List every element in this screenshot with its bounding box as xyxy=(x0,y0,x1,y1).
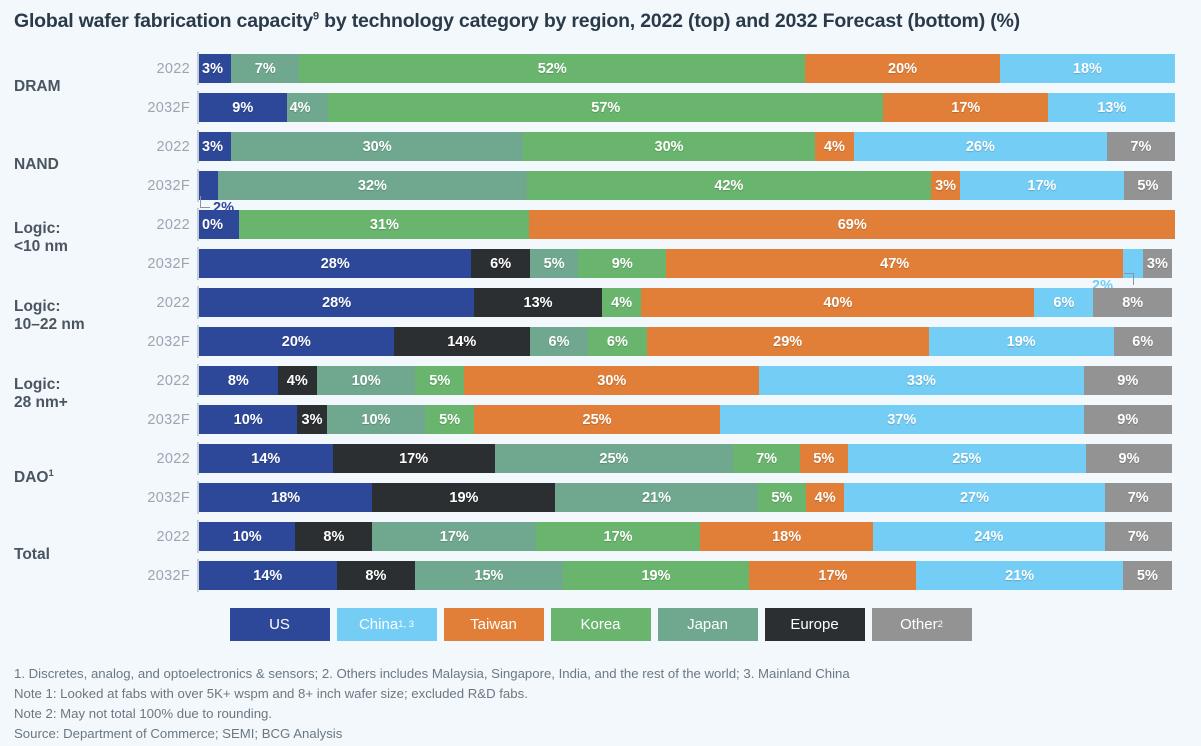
bar-segment-japan[interactable]: 17% xyxy=(372,522,536,551)
chart-group: DAO1202214%17%25%7%5%25%9%2032F18%19%21%… xyxy=(0,442,1201,514)
chart-row: 20220%31%69% xyxy=(0,208,1201,241)
group-rows: 20223%7%52%20%18%2032F9%4%57%17%13% xyxy=(0,52,1201,124)
bar-segment-china[interactable]: 37% xyxy=(720,405,1084,434)
bar-segment-other[interactable]: 7% xyxy=(1107,132,1175,161)
legend-item-japan[interactable]: Japan xyxy=(658,608,758,641)
chart-row: 2032F14%8%15%19%17%21%5% xyxy=(0,559,1201,592)
bar-segment-japan[interactable]: 6% xyxy=(530,327,588,356)
bar-segment-japan[interactable]: 10% xyxy=(317,366,415,395)
chart-row: 2032F9%4%57%17%13% xyxy=(0,91,1201,124)
bar-segment-japan[interactable]: 32% xyxy=(218,171,526,200)
bar-segment-china[interactable]: 6% xyxy=(1034,288,1093,317)
legend-item-europe[interactable]: Europe xyxy=(765,608,865,641)
stacked-bar: 8%4%10%5%30%33%9% xyxy=(199,366,1172,395)
bar-segment-korea[interactable]: 4% xyxy=(602,288,641,317)
bar-segment-us[interactable]: 10% xyxy=(199,522,295,551)
bar-segment-us[interactable]: 8% xyxy=(199,366,278,395)
bar-segment-taiwan[interactable]: 4% xyxy=(806,483,845,512)
chart-row: 2032F20%14%6%6%29%19%6% xyxy=(0,325,1201,358)
bar-segment-korea[interactable]: 9% xyxy=(578,249,666,278)
stacked-bar: 9%4%57%17%13% xyxy=(199,93,1172,122)
bar-segment-taiwan[interactable]: 40% xyxy=(641,288,1034,317)
bar-segment-japan[interactable]: 30% xyxy=(231,132,523,161)
footnotes: 1. Discretes, analog, and optoelectronic… xyxy=(14,664,1191,744)
legend-item-label: Japan xyxy=(687,616,728,633)
row-year-label: 2032F xyxy=(128,412,190,428)
stacked-bar: 32%42%3%17%5% xyxy=(199,171,1172,200)
bar-segment-korea[interactable]: 5% xyxy=(425,405,474,434)
bar-segment-taiwan[interactable]: 3% xyxy=(931,171,960,200)
bar-segment-japan[interactable]: 7% xyxy=(231,54,299,83)
bar-segment-korea[interactable]: 52% xyxy=(299,54,805,83)
bar-segment-europe[interactable]: 8% xyxy=(295,522,372,551)
bar-segment-other[interactable]: 3% xyxy=(1143,249,1172,278)
legend-item-china[interactable]: China1, 3 xyxy=(337,608,437,641)
row-year-label: 2032F xyxy=(128,490,190,506)
footnote-line-3: Note 2: May not total 100% due to roundi… xyxy=(14,704,1191,724)
bar-segment-us[interactable]: 28% xyxy=(199,288,474,317)
stacked-bar: 18%19%21%5%4%27%7% xyxy=(199,483,1172,512)
row-year-label: 2022 xyxy=(128,529,190,545)
bar-segment-japan[interactable]: 21% xyxy=(555,483,757,512)
bar-segment-other[interactable]: 7% xyxy=(1105,522,1172,551)
stacked-bar: 14%8%15%19%17%21%5% xyxy=(199,561,1172,590)
bar-segment-japan[interactable]: 5% xyxy=(530,249,579,278)
row-year-label: 2032F xyxy=(128,568,190,584)
legend-item-taiwan[interactable]: Taiwan xyxy=(444,608,544,641)
bar-segment-japan[interactable]: 10% xyxy=(327,405,425,434)
bar-segment-europe[interactable]: 14% xyxy=(394,327,530,356)
stacked-bar: 3%7%52%20%18% xyxy=(199,54,1172,83)
bar-segment-korea[interactable]: 5% xyxy=(758,483,806,512)
bar-segment-other[interactable]: 9% xyxy=(1084,405,1172,434)
group-rows: 202228%13%4%40%6%8%2032F20%14%6%6%29%19%… xyxy=(0,286,1201,358)
chart-page: Global wafer fabrication capacity9 by te… xyxy=(0,0,1201,746)
stacked-bar: 14%17%25%7%5%25%9% xyxy=(199,444,1172,473)
legend-item-korea[interactable]: Korea xyxy=(551,608,651,641)
bar-segment-china[interactable]: 19% xyxy=(929,327,1114,356)
bar-segment-europe[interactable]: 4% xyxy=(278,366,317,395)
bar-segment-china[interactable]: 24% xyxy=(873,522,1104,551)
bar-segment-taiwan[interactable]: 30% xyxy=(464,366,759,395)
chart-group: DRAM20223%7%52%20%18%2032F9%4%57%17%13% xyxy=(0,52,1201,124)
group-rows: 20223%30%30%4%26%7%2032F32%42%3%17%5%2% xyxy=(0,130,1201,202)
group-rows: 20220%31%69%2032F28%6%5%9%47%3%2% xyxy=(0,208,1201,280)
bar-segment-us[interactable]: 20% xyxy=(199,327,394,356)
bar-segment-europe[interactable]: 17% xyxy=(333,444,495,473)
bar-segment-us[interactable]: 14% xyxy=(199,561,337,590)
chart-group: Total202210%8%17%17%18%24%7%2032F14%8%15… xyxy=(0,520,1201,592)
bar-segment-other[interactable]: 7% xyxy=(1105,483,1172,512)
chart-group: Logic:<10 nm20220%31%69%2032F28%6%5%9%47… xyxy=(0,208,1201,280)
footnote-line-1: 1. Discretes, analog, and optoelectronic… xyxy=(14,664,1191,684)
bar-segment-korea[interactable]: 57% xyxy=(328,93,883,122)
page-title: Global wafer fabrication capacity9 by te… xyxy=(14,10,1191,33)
group-rows: 20228%4%10%5%30%33%9%2032F10%3%10%5%25%3… xyxy=(0,364,1201,436)
bar-segment-other[interactable]: 6% xyxy=(1114,327,1172,356)
legend-item-other[interactable]: Other2 xyxy=(872,608,972,641)
group-rows: 202214%17%25%7%5%25%9%2032F18%19%21%5%4%… xyxy=(0,442,1201,514)
legend-item-label: Europe xyxy=(790,616,838,633)
legend-item-label: Other xyxy=(900,616,938,633)
legend-item-label: China xyxy=(359,616,398,633)
stacked-bar: 20%14%6%6%29%19%6% xyxy=(199,327,1172,356)
bar-segment-korea[interactable]: 30% xyxy=(523,132,815,161)
stacked-bar: 10%8%17%17%18%24%7% xyxy=(199,522,1172,551)
bar-segment-taiwan[interactable]: 17% xyxy=(749,561,916,590)
row-year-label: 2022 xyxy=(128,451,190,467)
bar-segment-china[interactable]: 18% xyxy=(1000,54,1175,83)
bar-segment-korea[interactable]: 6% xyxy=(588,327,646,356)
bar-segment-japan[interactable]: 25% xyxy=(495,444,733,473)
chart-group: Logic:28 nm+20228%4%10%5%30%33%9%2032F10… xyxy=(0,364,1201,436)
bar-segment-us[interactable]: 28% xyxy=(199,249,471,278)
chart-row: 202210%8%17%17%18%24%7% xyxy=(0,520,1201,553)
page-title-text-after: by technology category by region, 2022 (… xyxy=(319,10,1020,32)
chart-legend: USChina1, 3TaiwanKoreaJapanEuropeOther2 xyxy=(0,608,1201,641)
bar-segment-taiwan[interactable]: 5% xyxy=(800,444,848,473)
bar-segment-europe[interactable]: 13% xyxy=(474,288,602,317)
bar-segment-taiwan[interactable]: 47% xyxy=(666,249,1123,278)
row-year-label: 2022 xyxy=(128,295,190,311)
bar-segment-us[interactable]: 18% xyxy=(199,483,372,512)
row-year-label: 2032F xyxy=(128,178,190,194)
chart-group: Logic:10–22 nm202228%13%4%40%6%8%2032F20… xyxy=(0,286,1201,358)
callout-leader-line xyxy=(200,196,210,208)
legend-item-superscript: 2 xyxy=(938,619,943,630)
bar-segment-europe[interactable]: 6% xyxy=(471,249,529,278)
bar-segment-china[interactable]: 27% xyxy=(844,483,1104,512)
footnote-line-4: Source: Department of Commerce; SEMI; BC… xyxy=(14,724,1191,744)
stacked-bar: 3%30%30%4%26%7% xyxy=(199,132,1172,161)
chart-row: 2032F18%19%21%5%4%27%7% xyxy=(0,481,1201,514)
bar-segment-europe[interactable]: 8% xyxy=(337,561,416,590)
bar-segment-china[interactable]: 26% xyxy=(854,132,1107,161)
bar-segment-taiwan[interactable]: 17% xyxy=(883,93,1048,122)
chart-row: 2032F32%42%3%17%5%2% xyxy=(0,169,1201,202)
bar-segment-china[interactable]: 17% xyxy=(960,171,1124,200)
bar-segment-taiwan[interactable]: 18% xyxy=(700,522,873,551)
stacked-bar: 28%6%5%9%47%3% xyxy=(199,249,1172,278)
page-title-text: Global wafer fabrication capacity xyxy=(14,10,313,32)
bar-segment-korea[interactable]: 42% xyxy=(527,171,932,200)
row-year-label: 2022 xyxy=(128,217,190,233)
bar-segment-europe[interactable]: 3% xyxy=(297,405,326,434)
bar-segment-korea[interactable]: 19% xyxy=(563,561,750,590)
bar-segment-taiwan[interactable]: 4% xyxy=(815,132,854,161)
bar-segment-us[interactable]: 3% xyxy=(199,54,231,83)
row-year-label: 2032F xyxy=(128,100,190,116)
stacked-bar: 0%31%69% xyxy=(199,210,1172,239)
bar-segment-korea[interactable]: 31% xyxy=(239,210,529,239)
chart-row: 20223%7%52%20%18% xyxy=(0,52,1201,85)
bar-segment-europe[interactable]: 19% xyxy=(372,483,555,512)
bar-segment-china[interactable]: 33% xyxy=(759,366,1083,395)
bar-segment-japan[interactable]: 15% xyxy=(415,561,562,590)
row-year-label: 2032F xyxy=(128,334,190,350)
row-year-label: 2022 xyxy=(128,139,190,155)
chart-row: 202214%17%25%7%5%25%9% xyxy=(0,442,1201,475)
row-year-label: 2022 xyxy=(128,373,190,389)
stacked-bar: 10%3%10%5%25%37%9% xyxy=(199,405,1172,434)
bar-segment-other[interactable]: 8% xyxy=(1093,288,1172,317)
legend-item-superscript: 1, 3 xyxy=(398,619,414,630)
stacked-bar: 28%13%4%40%6%8% xyxy=(199,288,1172,317)
bar-segment-us[interactable]: 10% xyxy=(199,405,297,434)
legend-item-label: Taiwan xyxy=(470,616,517,633)
bar-segment-china[interactable]: 25% xyxy=(848,444,1086,473)
bar-segment-korea[interactable]: 5% xyxy=(415,366,464,395)
bar-segment-other[interactable]: 5% xyxy=(1123,561,1172,590)
chart-row: 2032F10%3%10%5%25%37%9% xyxy=(0,403,1201,436)
chart-row: 202228%13%4%40%6%8% xyxy=(0,286,1201,319)
bar-segment-taiwan[interactable]: 25% xyxy=(474,405,720,434)
bar-segment-us[interactable]: 3% xyxy=(199,132,231,161)
legend-item-us[interactable]: US xyxy=(230,608,330,641)
footnote-line-2: Note 1: Looked at fabs with over 5K+ wsp… xyxy=(14,684,1191,704)
bar-segment-korea[interactable]: 7% xyxy=(733,444,800,473)
bar-segment-taiwan[interactable]: 20% xyxy=(805,54,1000,83)
bar-segment-us[interactable]: 14% xyxy=(199,444,333,473)
bar-segment-japan[interactable]: 4% xyxy=(287,93,329,122)
bar-segment-korea[interactable]: 17% xyxy=(536,522,700,551)
group-rows: 202210%8%17%17%18%24%7%2032F14%8%15%19%1… xyxy=(0,520,1201,592)
bar-segment-taiwan[interactable]: 29% xyxy=(647,327,929,356)
bar-segment-other[interactable]: 9% xyxy=(1086,444,1172,473)
legend-item-label: US xyxy=(269,616,290,633)
chart-row: 20223%30%30%4%26%7% xyxy=(0,130,1201,163)
bar-segment-other[interactable]: 9% xyxy=(1084,366,1172,395)
chart-row: 2032F28%6%5%9%47%3%2% xyxy=(0,247,1201,280)
row-year-label: 2032F xyxy=(128,256,190,272)
bar-segment-china[interactable]: 13% xyxy=(1048,93,1174,122)
chart-group: NAND20223%30%30%4%26%7%2032F32%42%3%17%5… xyxy=(0,130,1201,202)
bar-segment-us[interactable]: 9% xyxy=(199,93,287,122)
bar-segment-china[interactable]: 21% xyxy=(916,561,1122,590)
chart-row: 20228%4%10%5%30%33%9% xyxy=(0,364,1201,397)
legend-item-label: Korea xyxy=(580,616,620,633)
stacked-bar-chart: DRAM20223%7%52%20%18%2032F9%4%57%17%13%N… xyxy=(0,52,1201,604)
callout-leader-line xyxy=(1124,273,1134,285)
bar-segment-us[interactable]: 0% xyxy=(199,210,239,239)
bar-segment-taiwan[interactable]: 69% xyxy=(529,210,1175,239)
row-year-label: 2022 xyxy=(128,61,190,77)
bar-segment-other[interactable]: 5% xyxy=(1124,171,1172,200)
